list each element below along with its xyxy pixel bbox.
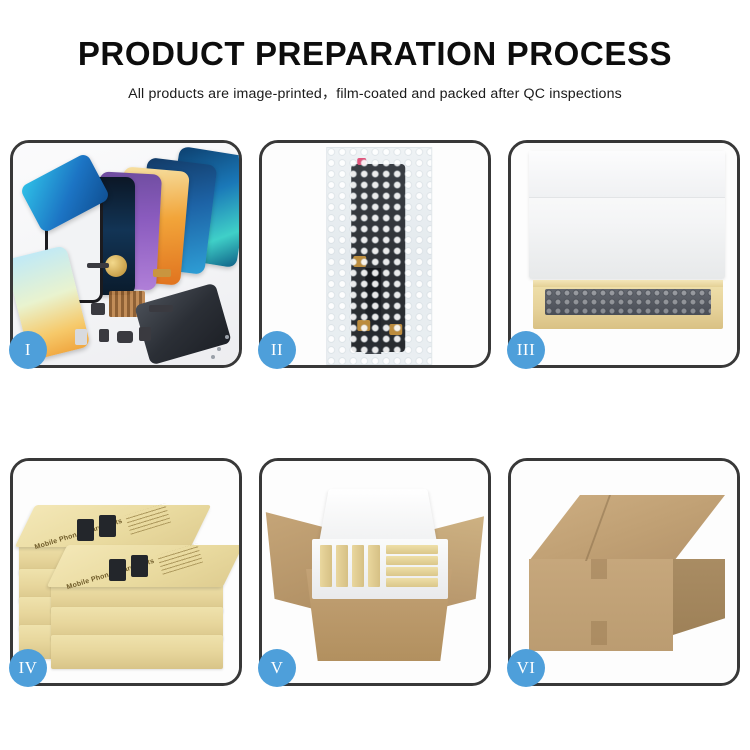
screw-part [217,347,221,351]
bubble-wrapped-contents [545,289,711,315]
kraft-box-rim [533,280,723,287]
bubble-wrap-package [326,147,432,365]
screw-part [211,355,215,359]
box-product-photo [99,515,116,537]
carton-top-face [529,495,725,561]
step-2-image [262,143,488,365]
process-step-3: III [508,140,740,368]
carton-side-face [673,559,725,635]
carton-tape-lower [591,621,607,645]
box-product-photo [77,519,94,541]
foam-lid [318,489,437,546]
box-product-photo [131,555,148,577]
packed-kraft-box [386,567,438,576]
product-preparation-infographic: PRODUCT PREPARATION PROCESS All products… [0,0,750,750]
speaker-part [99,329,109,342]
page-title: PRODUCT PREPARATION PROCESS [0,0,750,72]
small-chip-part [75,329,87,345]
step-6-image [511,461,737,683]
camera-flex-part [149,305,173,312]
process-step-4: Mobile Phone Spare Parts Mobile Phone Sp… [10,458,242,686]
packed-kraft-box [386,545,438,554]
gold-flex-part [153,269,171,277]
process-step-2: II [259,140,491,368]
page-subtitle: All products are image-printed，film-coat… [0,72,750,103]
step-badge-6: VI [507,649,545,687]
step-badge-3: III [507,331,545,369]
step-badge-5: V [258,649,296,687]
step-badge-2: II [258,331,296,369]
foam-fold [529,151,725,198]
packed-kraft-box [352,545,364,587]
process-step-6: VI [508,458,740,686]
step-badge-4: IV [9,649,47,687]
packed-kraft-box [320,545,332,587]
step-4-image: Mobile Phone Spare Parts Mobile Phone Sp… [13,461,239,683]
process-step-grid: I II [10,140,740,688]
step-3-image [511,143,737,365]
sim-tray-part [139,327,151,341]
connector-part [91,303,105,315]
screw-part [225,335,229,339]
kraft-box-stack: Mobile Phone Spare Parts Mobile Phone Sp… [19,483,237,673]
foam-liner [312,539,448,599]
step-1-image [13,143,239,365]
phone-backplate-part [134,283,232,365]
step-5-image [262,461,488,683]
step-badge-1: I [9,331,47,369]
process-step-5: V [259,458,491,686]
packed-kraft-box [368,545,380,587]
carton-tape-upper [591,559,607,579]
box-product-photo [109,559,126,581]
header: PRODUCT PREPARATION PROCESS All products… [0,0,750,103]
packed-kraft-box [386,578,438,587]
packed-kraft-box [336,545,348,587]
flex-cable-part [87,263,109,268]
process-step-1: I [10,140,242,368]
button-part [117,331,133,343]
kraft-box [51,635,223,669]
packed-kraft-box [386,556,438,565]
bubble-texture [327,148,431,364]
